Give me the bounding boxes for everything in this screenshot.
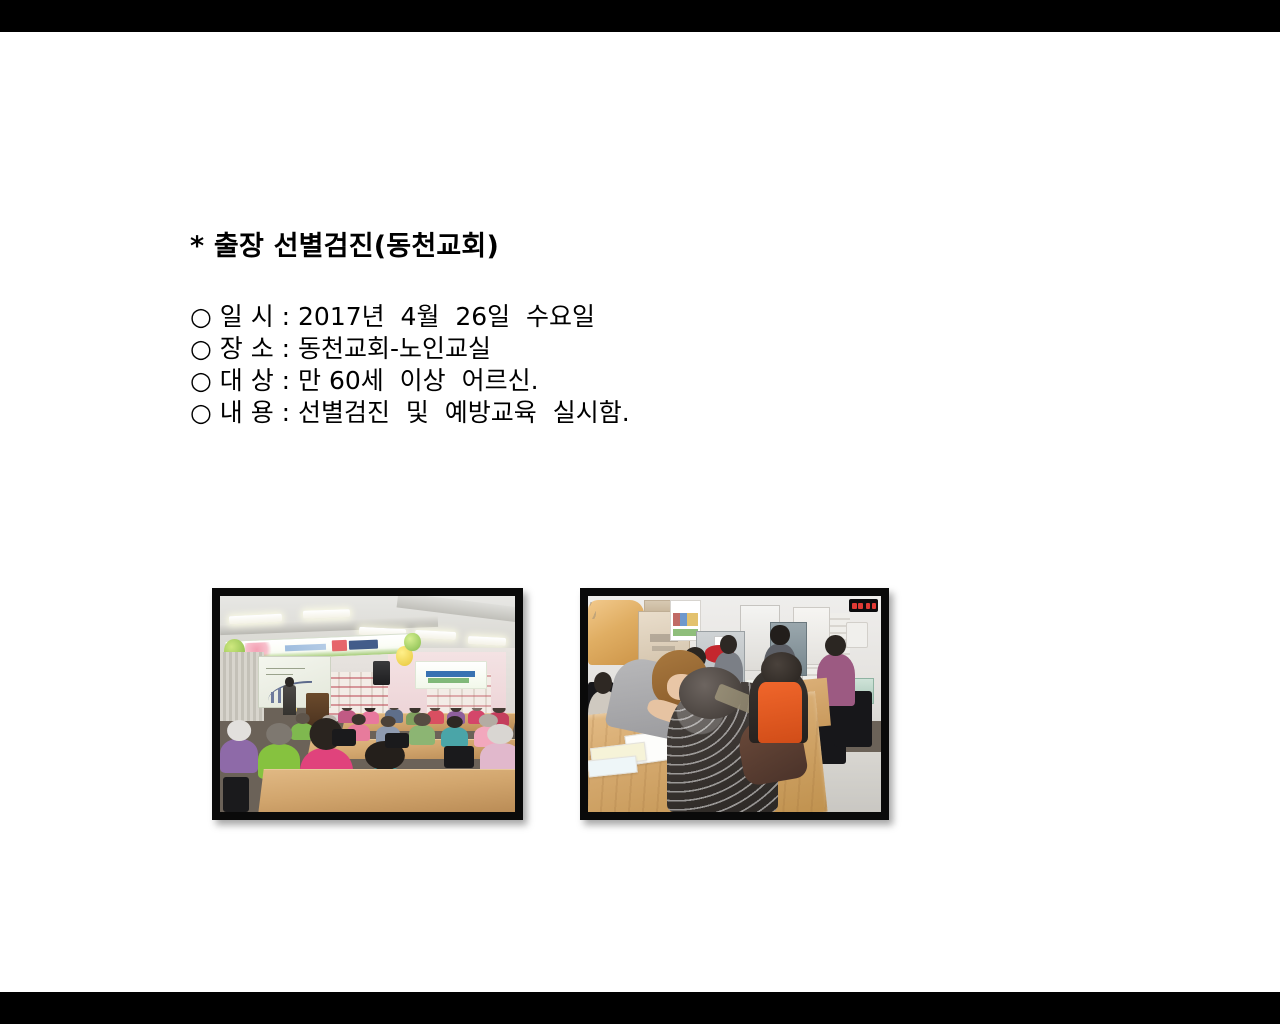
orange-apron (758, 682, 802, 742)
slide-bullet-list: ○ 일 시 : 2017년 4월 26일 수요일 ○ 장 소 : 동천교회-노인… (190, 301, 1090, 429)
attendee-head (227, 720, 251, 741)
attendee-head (471, 708, 482, 711)
chair (385, 733, 409, 748)
lecture-hall-photo (212, 588, 523, 820)
banner-subtitle-text (428, 678, 469, 682)
poster-image (673, 613, 698, 626)
led-digit (866, 603, 871, 609)
slide-title: * 출장 선별검진(동천교회) (190, 232, 1090, 262)
letterbox-bottom-bar (0, 992, 1280, 1024)
letterbox-top-bar (0, 0, 1280, 32)
attendee-head (487, 724, 513, 743)
screening-table-photo-image (588, 596, 881, 812)
attendee (220, 739, 258, 772)
balloon (404, 633, 420, 651)
attendee-head (365, 708, 376, 712)
bullet-item-content: ○ 내 용 : 선별검진 및 예방교육 실시함. (190, 397, 1090, 429)
led-digit (852, 603, 857, 609)
slide-chart-bar (278, 688, 282, 703)
attendee-head (266, 723, 292, 745)
attendee-head (409, 708, 420, 713)
slide-text-line (266, 674, 293, 675)
chair (223, 777, 250, 812)
led-display (849, 599, 878, 612)
sack-band (590, 602, 596, 619)
participant-head (720, 635, 736, 654)
attendee-head (351, 714, 366, 725)
lecture-hall-photo-image (220, 596, 515, 812)
slide-text-block: * 출장 선별검진(동천교회) ○ 일 시 : 2017년 4월 26일 수요일… (190, 232, 1090, 429)
attendee-head (295, 713, 310, 724)
poster-green-band (673, 629, 698, 636)
screening-table-photo (580, 588, 889, 820)
chair (332, 729, 356, 746)
speaker-box (373, 661, 389, 685)
attendee-head (389, 708, 400, 710)
chair (444, 746, 474, 769)
attendee (441, 727, 468, 747)
attendee-head (430, 708, 441, 711)
participant-head (770, 625, 789, 646)
banner-title-text (426, 671, 476, 677)
foreground-table (259, 769, 515, 812)
participant-head (594, 672, 613, 694)
attendee-head (446, 716, 462, 728)
slide-text-line (266, 668, 305, 669)
bullet-item-location: ○ 장 소 : 동천교회-노인교실 (190, 333, 1090, 365)
led-digit (858, 603, 863, 609)
wall-dispenser (846, 622, 869, 648)
storage-sack (588, 600, 644, 665)
attendee-head (492, 708, 505, 713)
attendee (409, 725, 436, 745)
ceiling-light (415, 629, 457, 639)
presenter-head (285, 677, 293, 687)
bullet-item-target: ○ 대 상 : 만 60세 이상 어르신. (190, 365, 1090, 397)
wall-banner (415, 661, 488, 689)
bullet-item-date: ○ 일 시 : 2017년 4월 26일 수요일 (190, 301, 1090, 333)
slide-chart-bar (271, 692, 275, 703)
attendee-head (341, 708, 352, 711)
attendee-head (414, 713, 430, 725)
slide-canvas: * 출장 선별검진(동천교회) ○ 일 시 : 2017년 4월 26일 수요일… (0, 32, 1280, 992)
presentation-screen: * 출장 선별검진(동천교회) ○ 일 시 : 2017년 4월 26일 수요일… (0, 0, 1280, 1024)
led-digit (872, 603, 877, 609)
attendee-head (451, 708, 462, 712)
attendee-head (381, 716, 396, 727)
